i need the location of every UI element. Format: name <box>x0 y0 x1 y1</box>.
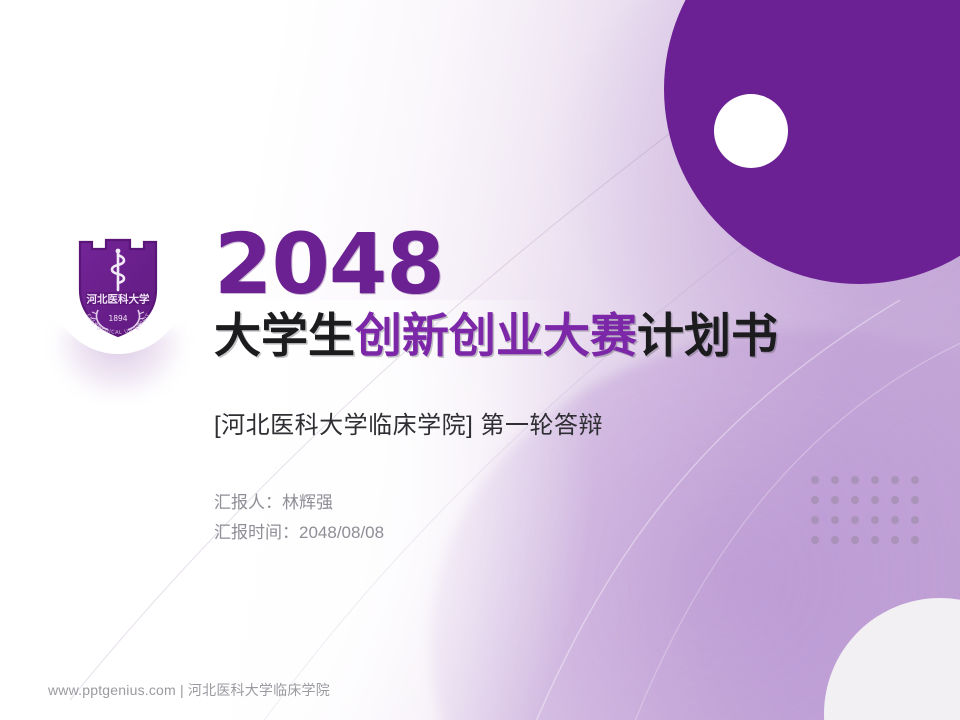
decorative-dot-grid <box>811 476 931 556</box>
grid-dot <box>871 476 879 484</box>
crest-name-cn: 河北医科大学 <box>87 293 150 306</box>
title-segment-accent: 创新创业大赛 <box>355 309 637 364</box>
grid-dot <box>811 496 819 504</box>
grid-dot <box>851 516 859 524</box>
grid-dot <box>811 536 819 544</box>
university-crest-icon: 河北医科大学 1894 HEBEI MEDICAL UNIVERSITY <box>68 232 168 344</box>
grid-dot <box>891 516 899 524</box>
date-line: 汇报时间：2048/08/08 <box>214 518 384 548</box>
slide-title: 大学生创新创业大赛计划书 <box>214 310 778 364</box>
grid-dot <box>851 536 859 544</box>
grid-dot <box>891 536 899 544</box>
grid-dot <box>871 536 879 544</box>
slide-year: 2048 <box>214 222 444 306</box>
grid-dot <box>811 476 819 484</box>
grid-dot <box>911 516 919 524</box>
grid-dot <box>831 476 839 484</box>
grid-dot <box>891 496 899 504</box>
university-logo: 河北医科大学 1894 HEBEI MEDICAL UNIVERSITY <box>52 222 184 354</box>
grid-dot <box>831 536 839 544</box>
title-segment-1: 大学生 <box>214 309 355 364</box>
decorative-circle-white-small <box>714 94 788 168</box>
grid-dot <box>831 516 839 524</box>
presentation-meta: 汇报人：林辉强 汇报时间：2048/08/08 <box>214 488 384 548</box>
grid-dot <box>811 516 819 524</box>
crest-rod-top <box>116 249 121 254</box>
title-segment-3: 计划书 <box>637 309 778 364</box>
grid-dot <box>911 536 919 544</box>
presenter-line: 汇报人：林辉强 <box>214 488 384 518</box>
grid-dot <box>851 496 859 504</box>
grid-dot <box>851 476 859 484</box>
grid-dot <box>911 496 919 504</box>
grid-dot <box>871 516 879 524</box>
grid-dot <box>891 476 899 484</box>
presentation-slide: 河北医科大学 1894 HEBEI MEDICAL UNIVERSITY 204… <box>0 0 960 720</box>
grid-dot <box>831 496 839 504</box>
crest-founded-year: 1894 <box>108 314 127 323</box>
slide-subtitle: [河北医科大学临床学院] 第一轮答辩 <box>214 405 603 440</box>
grid-dot <box>911 476 919 484</box>
slide-footer: www.pptgenius.com | 河北医科大学临床学院 <box>48 680 330 700</box>
grid-dot <box>871 496 879 504</box>
